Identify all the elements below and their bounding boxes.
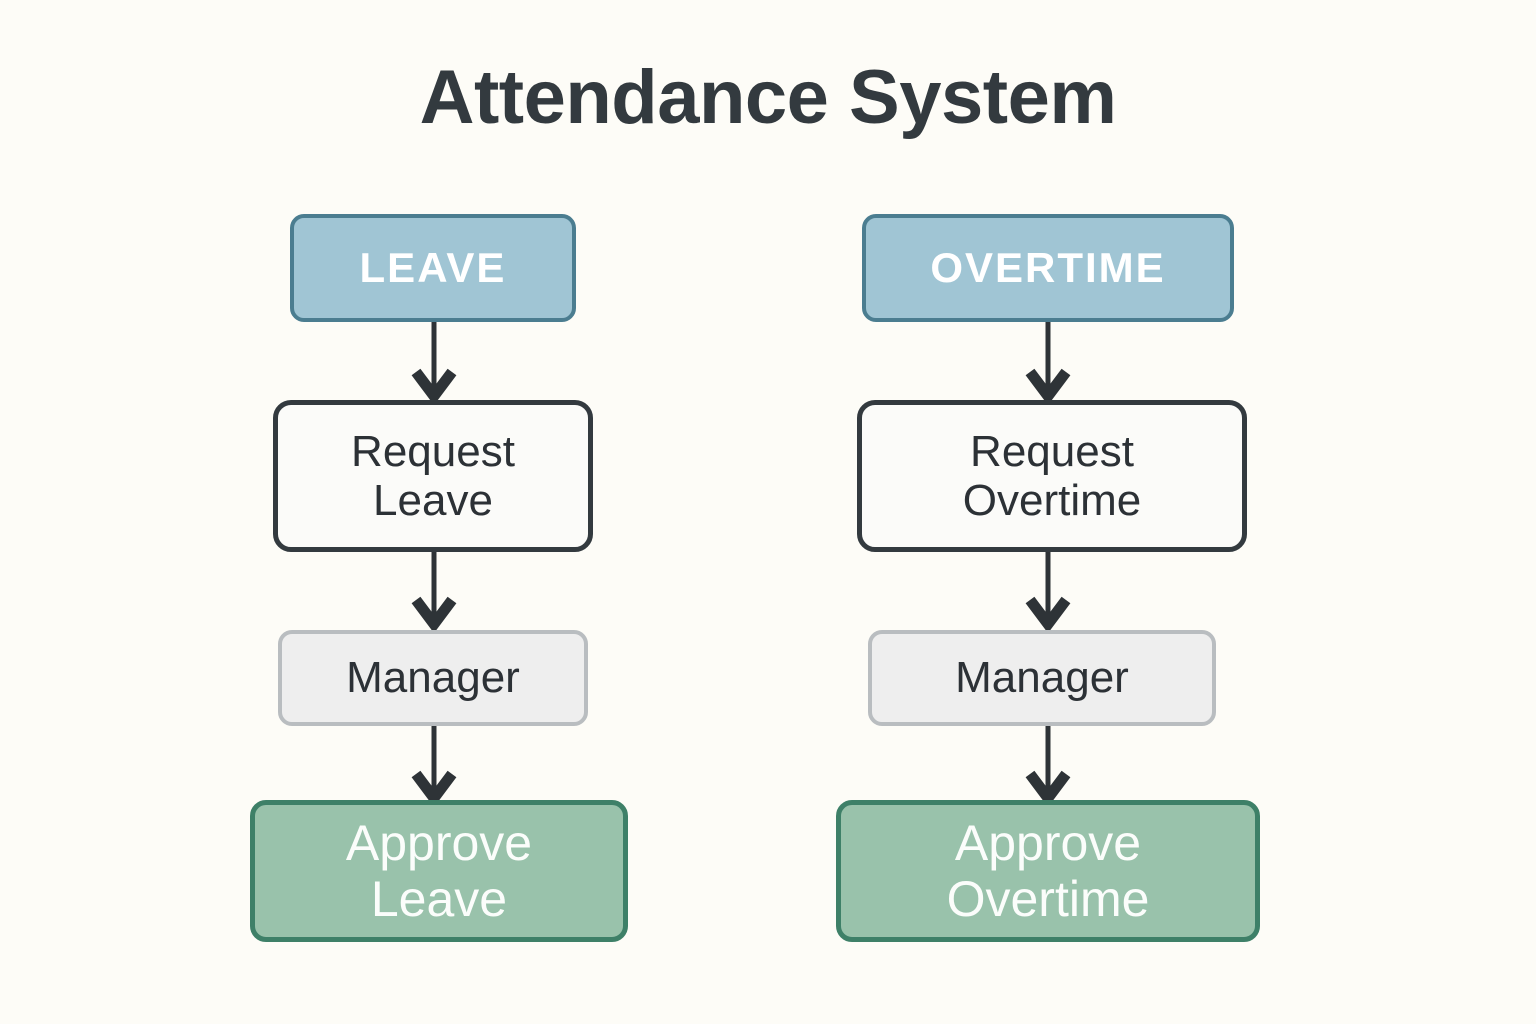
arrow-leave-header-to-request bbox=[404, 322, 464, 402]
node-request-leave[interactable]: Request Leave bbox=[273, 400, 593, 552]
arrow-manager-to-approve-overtime bbox=[1018, 726, 1078, 804]
arrow-manager-to-approve-leave bbox=[404, 726, 464, 804]
page-title: Attendance System bbox=[0, 58, 1536, 138]
arrow-overtime-header-to-request bbox=[1018, 322, 1078, 402]
diagram-canvas: Attendance System LEAVE Request Leave Ma… bbox=[0, 0, 1536, 1024]
arrow-request-overtime-to-manager bbox=[1018, 552, 1078, 630]
node-leave-header[interactable]: LEAVE bbox=[290, 214, 576, 322]
node-manager-overtime[interactable]: Manager bbox=[868, 630, 1216, 726]
node-overtime-header[interactable]: OVERTIME bbox=[862, 214, 1234, 322]
node-approve-overtime[interactable]: Approve Overtime bbox=[836, 800, 1260, 942]
node-request-overtime[interactable]: Request Overtime bbox=[857, 400, 1247, 552]
arrow-request-leave-to-manager bbox=[404, 552, 464, 630]
node-manager-leave[interactable]: Manager bbox=[278, 630, 588, 726]
node-approve-leave[interactable]: Approve Leave bbox=[250, 800, 628, 942]
